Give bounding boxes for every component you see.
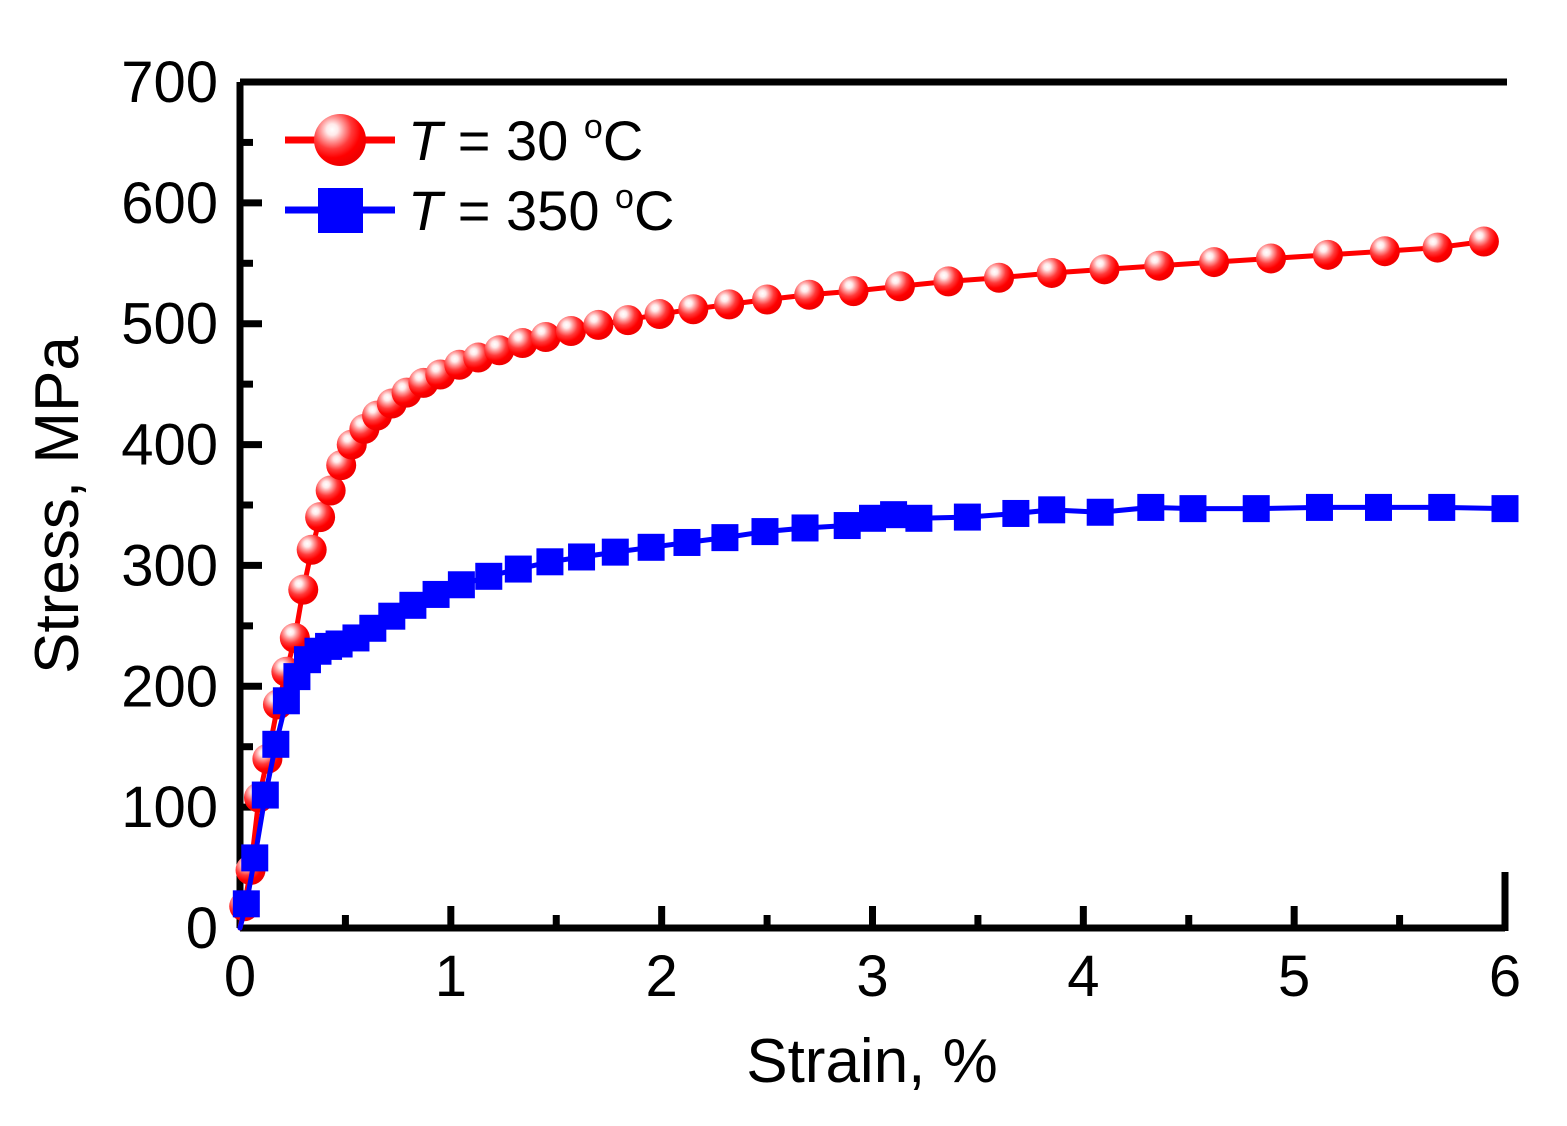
x-tick-label: 6: [1489, 944, 1521, 1009]
data-marker-sphere: [583, 310, 613, 340]
data-marker-square: [1002, 500, 1029, 527]
data-marker-sphere: [1370, 236, 1400, 266]
x-tick-label: 2: [646, 944, 678, 1009]
data-marker-sphere: [933, 266, 963, 296]
data-marker-sphere: [678, 294, 708, 324]
data-marker-sphere: [1423, 233, 1453, 263]
data-marker-square: [602, 539, 629, 566]
data-marker-square: [834, 512, 861, 539]
data-marker-sphere: [1037, 258, 1067, 288]
data-marker-square: [233, 890, 260, 917]
data-marker-square: [568, 543, 595, 570]
data-marker-square: [1492, 495, 1519, 522]
data-marker-square: [423, 581, 450, 608]
data-marker-square: [880, 501, 907, 528]
data-marker-sphere: [714, 289, 744, 319]
data-marker-square: [1243, 495, 1270, 522]
data-marker-sphere: [1089, 254, 1119, 284]
data-marker-sphere: [288, 575, 318, 605]
data-marker-square: [792, 514, 819, 541]
data-marker-square: [1365, 494, 1392, 521]
data-marker-square: [448, 571, 475, 598]
data-marker-sphere: [1199, 247, 1229, 277]
data-marker-square: [252, 782, 279, 809]
data-marker-sphere: [1144, 251, 1174, 281]
data-marker-sphere: [531, 322, 561, 352]
data-marker-square: [399, 592, 426, 619]
data-marker-square: [1137, 494, 1164, 521]
y-tick-label: 100: [121, 775, 218, 840]
data-marker-sphere: [885, 271, 915, 301]
x-tick-label: 5: [1278, 944, 1310, 1009]
data-marker-square: [536, 548, 563, 575]
y-tick-label: 500: [121, 292, 218, 357]
data-marker-sphere: [1313, 240, 1343, 270]
data-marker-square: [262, 731, 289, 758]
data-marker-sphere: [1469, 227, 1499, 257]
x-axis-title: Strain, %: [746, 1027, 998, 1096]
legend-marker-circle-icon: [314, 114, 366, 166]
data-marker-square: [241, 844, 268, 871]
data-marker-sphere: [984, 263, 1014, 293]
data-marker-square: [1038, 496, 1065, 523]
y-tick-label: 300: [121, 533, 218, 598]
data-marker-sphere: [556, 316, 586, 346]
x-tick-label: 0: [224, 944, 256, 1009]
legend-label-30c: T = 30 oC: [408, 108, 643, 172]
data-marker-square: [954, 504, 981, 531]
data-marker-sphere: [794, 280, 824, 310]
data-marker-sphere: [305, 502, 335, 532]
y-tick-label: 700: [121, 50, 218, 115]
y-tick-label: 0: [186, 896, 218, 961]
y-axis-title: Stress, MPa: [23, 336, 92, 674]
data-marker-square: [638, 534, 665, 561]
data-marker-square: [1428, 494, 1455, 521]
chart-page: 0100200300400500600700 0123456 Strain, %…: [0, 0, 1567, 1126]
data-marker-sphere: [1256, 243, 1286, 273]
data-marker-square: [1306, 494, 1333, 521]
legend-marker-square-icon: [318, 188, 363, 233]
data-marker-square: [905, 505, 932, 532]
data-marker-square: [673, 529, 700, 556]
data-marker-square: [505, 556, 532, 583]
y-tick-label: 200: [121, 654, 218, 719]
data-marker-sphere: [297, 535, 327, 565]
data-marker-sphere: [839, 276, 869, 306]
legend-label-350c: T = 350 oC: [408, 178, 674, 242]
stress-strain-chart: 0100200300400500600700 0123456 Strain, %…: [0, 0, 1567, 1126]
data-marker-square: [273, 687, 300, 714]
data-marker-square: [751, 518, 778, 545]
data-marker-sphere: [645, 299, 675, 329]
data-marker-square: [711, 524, 738, 551]
data-marker-square: [1179, 495, 1206, 522]
data-marker-square: [1087, 499, 1114, 526]
data-marker-sphere: [613, 305, 643, 335]
y-tick-label: 400: [121, 413, 218, 478]
x-tick-label: 3: [856, 944, 888, 1009]
x-tick-label: 1: [435, 944, 467, 1009]
y-tick-label: 600: [121, 171, 218, 236]
data-marker-square: [475, 563, 502, 590]
x-tick-label: 4: [1067, 944, 1099, 1009]
data-marker-sphere: [752, 285, 782, 315]
